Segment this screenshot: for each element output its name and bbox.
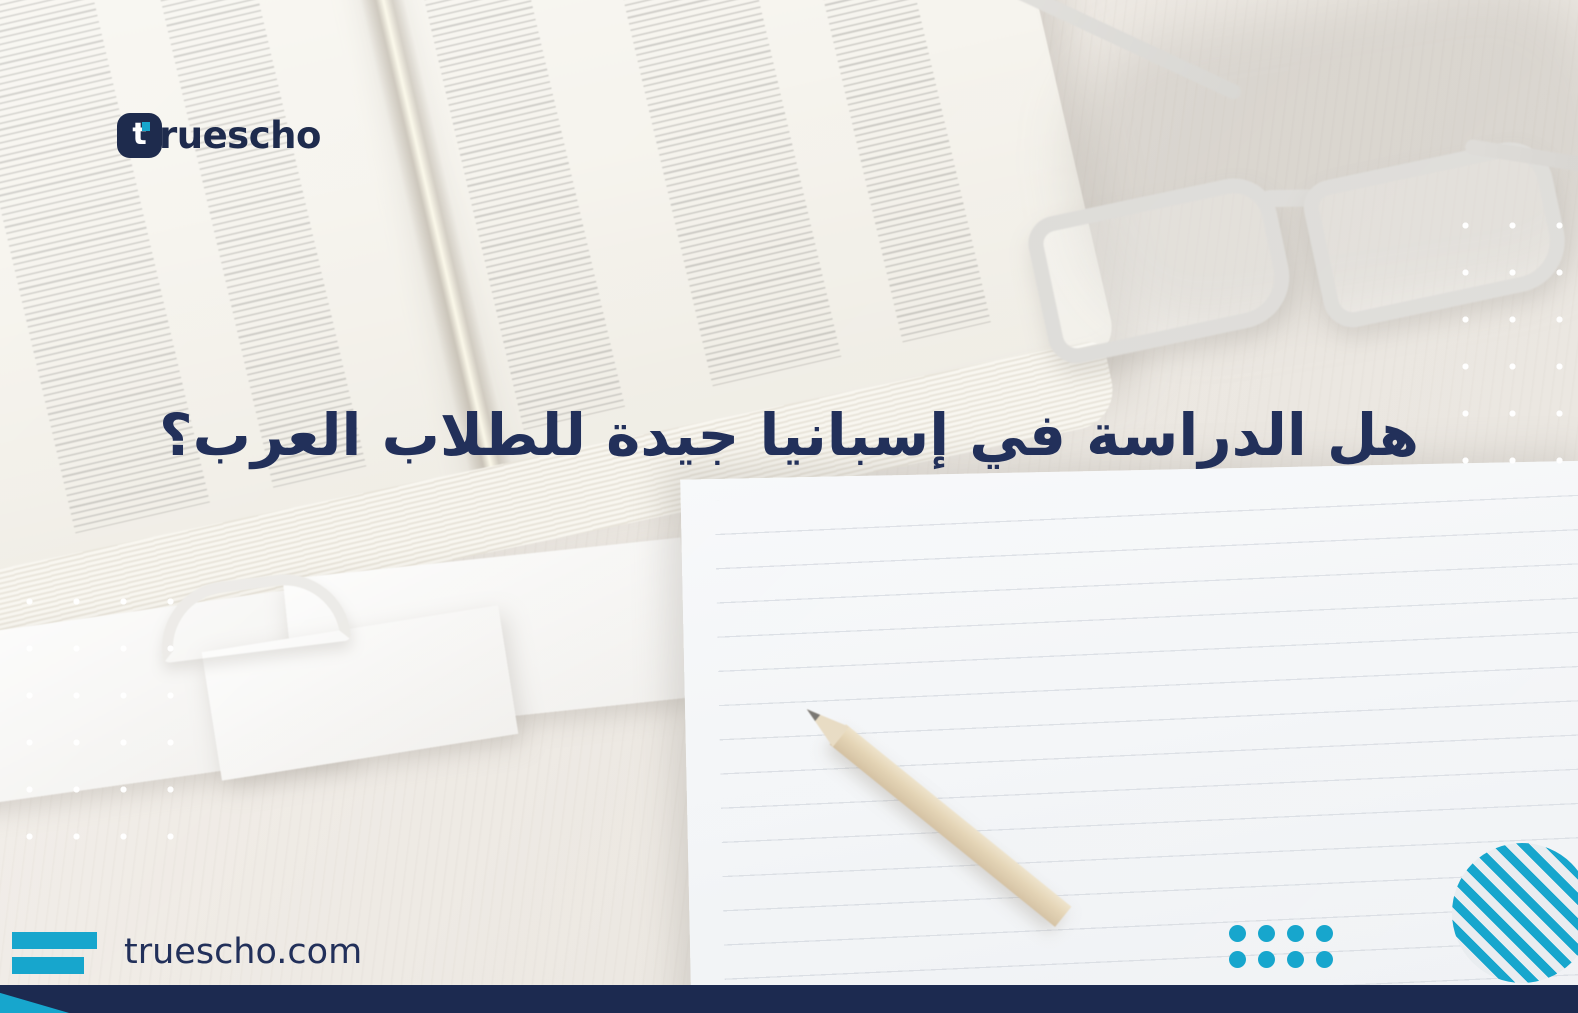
dot xyxy=(1258,951,1275,968)
logo-mark-accent xyxy=(142,122,150,131)
footer-bar-long xyxy=(12,932,97,949)
dot xyxy=(1316,951,1333,968)
brand-logo[interactable]: t ruescho xyxy=(117,113,321,158)
dot xyxy=(1316,925,1333,942)
bottom-bar-teal-accent xyxy=(0,985,96,1013)
dot-grid-left-decoration xyxy=(0,572,200,862)
page-title: هل الدراسة في إسبانيا جيدة للطلاب العرب؟ xyxy=(100,400,1478,471)
brand-wordmark: ruescho xyxy=(159,114,321,157)
poster-canvas: t ruescho هل الدراسة في إسبانيا جيدة للط… xyxy=(0,0,1578,1013)
truescho-logo-mark-icon: t xyxy=(117,113,162,158)
bottom-navy-bar xyxy=(0,985,1578,1013)
footer-website-url[interactable]: truescho.com xyxy=(124,932,362,972)
dot xyxy=(1258,925,1275,942)
dot xyxy=(1287,925,1304,942)
dot xyxy=(1287,951,1304,968)
footer-bar-short xyxy=(12,957,84,974)
teal-dot-matrix-decoration xyxy=(1229,925,1333,968)
dot xyxy=(1229,951,1246,968)
dot xyxy=(1229,925,1246,942)
footer-logo-bars-icon xyxy=(12,932,104,974)
